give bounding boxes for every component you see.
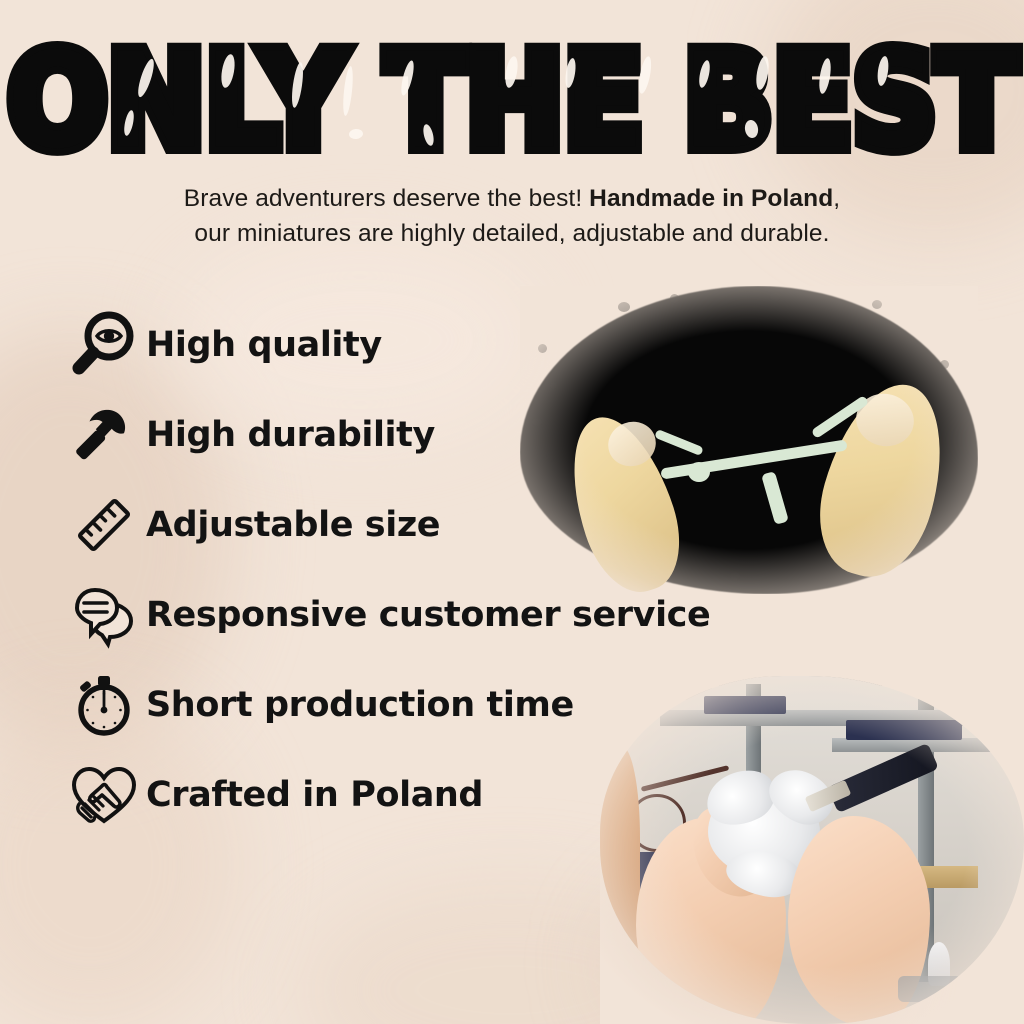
- feature-label: High quality: [146, 325, 382, 365]
- subtitle-line-2: our miniatures are highly detailed, adju…: [0, 217, 1024, 252]
- feature-item-high-quality: High quality: [62, 300, 762, 390]
- feature-item-responsive-customer-service: Responsive customer service: [62, 570, 762, 660]
- ruler-icon: [62, 489, 146, 561]
- feature-label: Adjustable size: [146, 505, 440, 545]
- subtitle: Brave adventurers deserve the best! Hand…: [0, 182, 1024, 252]
- poster-root: ONLY THE BEST Brave adventurers deserve …: [0, 0, 1024, 1024]
- page-title: ONLY THE BEST: [8, 36, 1017, 168]
- feature-item-short-production-time: Short production time: [62, 660, 762, 750]
- hammer-icon: [62, 399, 146, 471]
- torn-speck: [770, 292, 781, 301]
- feature-list: High quality High durability: [62, 300, 762, 840]
- torn-speck: [820, 578, 828, 585]
- subtitle-prefix: Brave adventurers deserve the best!: [184, 185, 589, 212]
- feature-item-high-durability: High durability: [62, 390, 762, 480]
- feature-label: Short production time: [146, 685, 574, 725]
- subtitle-bold: Handmade in Poland: [589, 185, 833, 212]
- magnifier-eye-icon: [62, 309, 146, 381]
- chat-bubbles-icon: [62, 579, 146, 651]
- headline-container: ONLY THE BEST: [0, 36, 1024, 152]
- shelf-clutter: [898, 976, 962, 1002]
- stopwatch-icon: [62, 669, 146, 741]
- feature-label: Responsive customer service: [146, 595, 710, 635]
- miniature-tray: [846, 720, 962, 740]
- feature-label: High durability: [146, 415, 435, 455]
- feature-item-crafted-in-poland: Crafted in Poland: [62, 750, 762, 840]
- handshake-heart-icon: [62, 759, 146, 831]
- torn-speck: [940, 360, 949, 369]
- feature-item-adjustable-size: Adjustable size: [62, 480, 762, 570]
- feature-label: Crafted in Poland: [146, 775, 483, 815]
- subtitle-suffix: ,: [833, 185, 840, 212]
- subtitle-line-1: Brave adventurers deserve the best! Hand…: [0, 182, 1024, 217]
- torn-speck: [872, 300, 882, 309]
